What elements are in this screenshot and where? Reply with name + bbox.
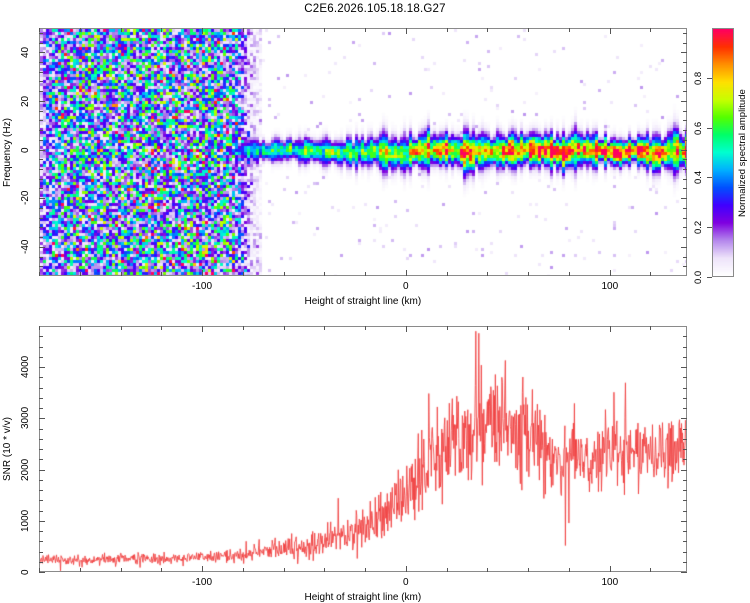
figure-title: C2E6.2026.105.18.18.G27: [0, 3, 750, 15]
axis-tick-label-x: 100: [602, 577, 619, 588]
axis-tick: [161, 272, 162, 276]
axis-title-x: Height of straight line (km): [305, 296, 422, 307]
snr-trace: [40, 327, 687, 572]
axis-tick: [39, 347, 43, 348]
axis-tick: [39, 266, 43, 267]
axis-tick: [528, 272, 529, 276]
axis-tick: [681, 521, 687, 522]
axis-tick: [683, 347, 687, 348]
axis-tick: [39, 111, 43, 112]
axis-tick: [39, 28, 40, 32]
axis-tick: [39, 33, 43, 34]
axis-tick: [161, 568, 162, 572]
axis-tick: [610, 270, 611, 276]
axis-tick: [681, 198, 687, 199]
axis-tick: [39, 357, 43, 358]
axis-tick: [39, 439, 43, 440]
axis-tick: [650, 326, 651, 330]
axis-tick: [39, 470, 45, 471]
colorbar-tick-label: 0.4: [693, 170, 704, 183]
axis-tick: [202, 326, 203, 332]
axis-tick-label-y: 2000: [20, 459, 31, 481]
axis-tick: [650, 568, 651, 572]
axis-tick: [243, 28, 244, 32]
axis-tick: [39, 408, 43, 409]
axis-tick: [39, 227, 43, 228]
axis-tick: [161, 326, 162, 330]
axis-tick: [39, 511, 43, 512]
axis-tick: [80, 326, 81, 330]
axis-tick: [683, 531, 687, 532]
axis-tick: [39, 272, 40, 276]
axis-tick: [39, 159, 43, 160]
axis-tick: [683, 169, 687, 170]
axis-tick-label-y: 4000: [20, 356, 31, 378]
axis-tick: [447, 28, 448, 32]
axis-tick: [569, 326, 570, 330]
axis-tick: [284, 326, 285, 330]
axis-tick: [39, 198, 45, 199]
colorbar-title: Normalized spectral amplitude: [737, 89, 748, 217]
axis-tick: [39, 521, 45, 522]
axis-tick: [683, 541, 687, 542]
axis-tick: [487, 28, 488, 32]
axis-tick: [39, 459, 43, 460]
axis-tick: [406, 270, 407, 276]
axis-tick: [528, 28, 529, 32]
axis-tick: [39, 247, 45, 248]
axis-tick: [683, 159, 687, 160]
axis-tick: [365, 568, 366, 572]
axis-tick: [683, 429, 687, 430]
snr-panel: [39, 326, 687, 572]
axis-tick: [683, 552, 687, 553]
axis-tick: [39, 449, 43, 450]
axis-tick: [681, 418, 687, 419]
axis-tick: [683, 43, 687, 44]
axis-title-y: SNR (10 * v/v): [2, 417, 13, 481]
axis-title-y: Frequency (Hz): [2, 118, 13, 187]
axis-tick-label-y: 1000: [20, 510, 31, 532]
axis-tick: [683, 377, 687, 378]
colorbar-tick-label: 0.8: [693, 71, 704, 84]
axis-tick: [447, 568, 448, 572]
axis-tick: [683, 459, 687, 460]
axis-tick: [324, 28, 325, 32]
spectrogram-panel: [39, 28, 687, 276]
axis-tick: [39, 336, 43, 337]
axis-tick: [406, 28, 407, 34]
axis-tick: [202, 28, 203, 34]
axis-tick: [447, 326, 448, 330]
axis-tick: [39, 130, 43, 131]
axis-tick: [121, 272, 122, 276]
axis-tick: [683, 179, 687, 180]
axis-tick: [39, 91, 43, 92]
axis-tick: [683, 480, 687, 481]
axis-tick: [365, 272, 366, 276]
axis-tick: [324, 326, 325, 330]
axis-tick-label-y: 3000: [20, 407, 31, 429]
axis-tick: [569, 272, 570, 276]
axis-tick: [681, 101, 687, 102]
axis-tick-label-x: -100: [192, 281, 212, 292]
axis-tick: [681, 52, 687, 53]
axis-tick: [39, 72, 43, 73]
axis-tick: [39, 257, 43, 258]
axis-tick: [681, 572, 687, 573]
colorbar-tick-label: 0.6: [693, 121, 704, 134]
axis-tick: [39, 150, 45, 151]
colorbar-tick-label: 0.2: [693, 220, 704, 233]
axis-tick: [121, 28, 122, 32]
axis-tick: [683, 257, 687, 258]
axis-tick: [39, 377, 43, 378]
axis-tick-label-y: -20: [20, 191, 31, 205]
axis-tick: [683, 227, 687, 228]
axis-tick: [80, 272, 81, 276]
axis-tick: [707, 78, 712, 79]
axis-tick: [681, 150, 687, 151]
axis-tick: [80, 28, 81, 32]
axis-tick: [39, 541, 43, 542]
axis-tick: [39, 562, 43, 563]
axis-tick: [39, 480, 43, 481]
axis-tick: [324, 568, 325, 572]
axis-tick: [610, 326, 611, 332]
axis-tick: [39, 572, 45, 573]
axis-tick-label-y: 0: [20, 147, 31, 153]
axis-tick: [683, 449, 687, 450]
axis-tick: [683, 120, 687, 121]
axis-tick: [650, 272, 651, 276]
colorbar: [712, 28, 734, 277]
axis-tick: [243, 568, 244, 572]
axis-tick: [39, 429, 43, 430]
axis-tick: [39, 140, 43, 141]
axis-tick: [681, 367, 687, 368]
axis-tick: [610, 566, 611, 572]
axis-tick: [707, 227, 712, 228]
axis-tick: [365, 28, 366, 32]
axis-tick-label-x: -100: [192, 577, 212, 588]
axis-tick: [683, 266, 687, 267]
axis-tick-label-x: 0: [403, 577, 409, 588]
axis-tick: [683, 490, 687, 491]
axis-tick: [284, 568, 285, 572]
axis-tick: [80, 568, 81, 572]
axis-tick: [707, 277, 712, 278]
axis-tick: [39, 169, 43, 170]
axis-tick: [707, 128, 712, 129]
axis-tick: [243, 272, 244, 276]
axis-tick: [487, 272, 488, 276]
axis-tick: [39, 179, 43, 180]
axis-tick: [683, 72, 687, 73]
axis-tick: [39, 188, 43, 189]
axis-tick: [202, 566, 203, 572]
axis-tick: [683, 91, 687, 92]
axis-tick: [121, 568, 122, 572]
axis-tick: [39, 531, 43, 532]
axis-tick: [39, 62, 43, 63]
axis-tick: [683, 218, 687, 219]
colorbar-tick-label: 0.0: [693, 270, 704, 283]
axis-tick: [39, 326, 40, 330]
axis-tick: [683, 357, 687, 358]
axis-tick: [487, 568, 488, 572]
axis-tick: [39, 218, 43, 219]
axis-tick: [39, 552, 43, 553]
axis-tick: [683, 140, 687, 141]
axis-tick: [39, 81, 43, 82]
axis-tick: [683, 511, 687, 512]
axis-tick: [681, 247, 687, 248]
axis-tick: [683, 562, 687, 563]
colorbar-gradient: [713, 29, 733, 276]
axis-tick: [610, 28, 611, 34]
axis-tick: [681, 470, 687, 471]
axis-tick: [39, 418, 45, 419]
axis-tick: [528, 326, 529, 330]
axis-title-x: Height of straight line (km): [305, 592, 422, 603]
axis-tick: [284, 28, 285, 32]
axis-tick: [39, 398, 43, 399]
axis-tick: [39, 237, 43, 238]
axis-tick: [39, 490, 43, 491]
axis-tick: [406, 566, 407, 572]
spectrogram-image: [40, 29, 687, 276]
axis-tick: [39, 208, 43, 209]
axis-tick: [161, 28, 162, 32]
axis-tick: [121, 326, 122, 330]
axis-tick: [39, 367, 45, 368]
axis-tick: [683, 111, 687, 112]
axis-tick: [683, 81, 687, 82]
axis-tick: [569, 568, 570, 572]
axis-tick-label-x: 0: [403, 281, 409, 292]
axis-tick: [683, 500, 687, 501]
axis-tick: [683, 439, 687, 440]
axis-tick: [528, 568, 529, 572]
axis-tick: [39, 101, 45, 102]
axis-tick: [39, 43, 43, 44]
axis-tick-label-y: 20: [20, 95, 31, 106]
axis-tick: [683, 208, 687, 209]
axis-tick: [202, 270, 203, 276]
axis-tick: [243, 326, 244, 330]
axis-tick: [447, 272, 448, 276]
figure-canvas: C2E6.2026.105.18.18.G27 -1000100-40-2002…: [0, 0, 750, 600]
axis-tick: [406, 326, 407, 332]
axis-tick: [683, 130, 687, 131]
axis-tick-label-y: -40: [20, 240, 31, 254]
axis-tick: [365, 326, 366, 330]
axis-tick: [707, 177, 712, 178]
axis-tick: [683, 237, 687, 238]
axis-tick: [569, 28, 570, 32]
axis-tick: [39, 52, 45, 53]
axis-tick: [683, 33, 687, 34]
axis-tick: [39, 500, 43, 501]
axis-tick: [39, 120, 43, 121]
axis-tick: [683, 388, 687, 389]
axis-tick: [487, 326, 488, 330]
axis-tick: [683, 188, 687, 189]
axis-tick: [683, 62, 687, 63]
axis-tick: [650, 28, 651, 32]
axis-tick-label-y: 40: [20, 46, 31, 57]
axis-tick: [683, 336, 687, 337]
axis-tick-label-y: 0: [20, 569, 31, 575]
axis-tick: [39, 388, 43, 389]
axis-tick: [324, 272, 325, 276]
axis-tick: [683, 408, 687, 409]
axis-tick: [284, 272, 285, 276]
axis-tick-label-x: 100: [602, 281, 619, 292]
axis-tick: [683, 398, 687, 399]
